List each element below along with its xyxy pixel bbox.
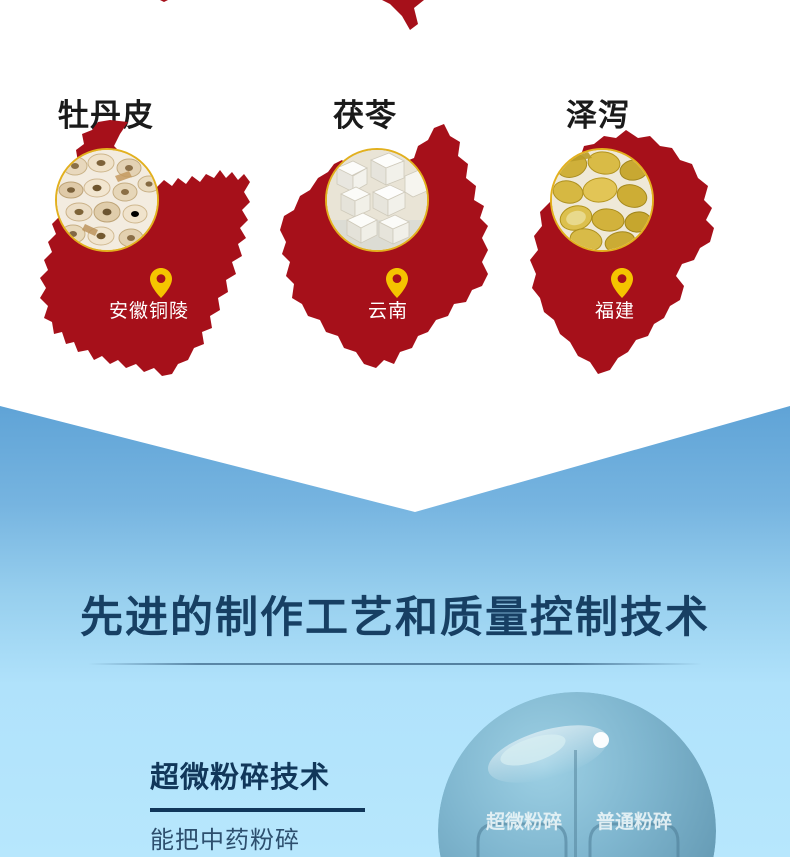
herb-photo: [55, 148, 159, 252]
herb-photo: [325, 148, 429, 252]
white-cubes-photo: [327, 150, 427, 250]
province-map-container: 福建: [506, 120, 756, 390]
technology-info-block: 超微粉碎技术 能把中药粉碎: [150, 760, 400, 856]
herb-origin-card[interactable]: 牡丹皮: [30, 0, 280, 410]
orb-right-label: 普通粉碎: [596, 810, 672, 833]
region-label: 福建: [595, 301, 635, 323]
product-detail-page: 牡丹皮: [0, 0, 790, 857]
herb-origin-section: 牡丹皮: [0, 0, 790, 410]
herb-photo: [550, 148, 654, 252]
herb-origin-card[interactable]: 茯苓: [268, 0, 518, 410]
location-pin-icon: [386, 268, 408, 298]
technology-name: 超微粉碎技术: [150, 760, 400, 796]
province-map-container: 安徽铜陵: [30, 120, 280, 390]
herb-slices-photo: [57, 150, 157, 250]
region-label: 安徽铜陵: [109, 301, 189, 323]
process-section-title: 先进的制作工艺和质量控制技术: [0, 592, 790, 644]
herb-origin-card[interactable]: 泽泻: [506, 0, 756, 410]
chevron-notch-shape: [0, 404, 790, 516]
technology-description: 能把中药粉碎: [150, 826, 400, 856]
yellow-slices-photo: [552, 150, 652, 250]
technology-underline: [150, 808, 365, 812]
location-pin-icon: [150, 268, 172, 298]
anhui-province-map: [30, 120, 280, 390]
powder-comparison-orb: 超微粉碎 普通粉碎: [438, 692, 716, 857]
region-label: 云南: [368, 301, 408, 323]
province-map-container: 云南: [268, 120, 518, 390]
location-pin-icon: [611, 268, 633, 298]
orb-left-label: 超微粉碎: [485, 810, 562, 833]
title-divider: [88, 663, 702, 665]
